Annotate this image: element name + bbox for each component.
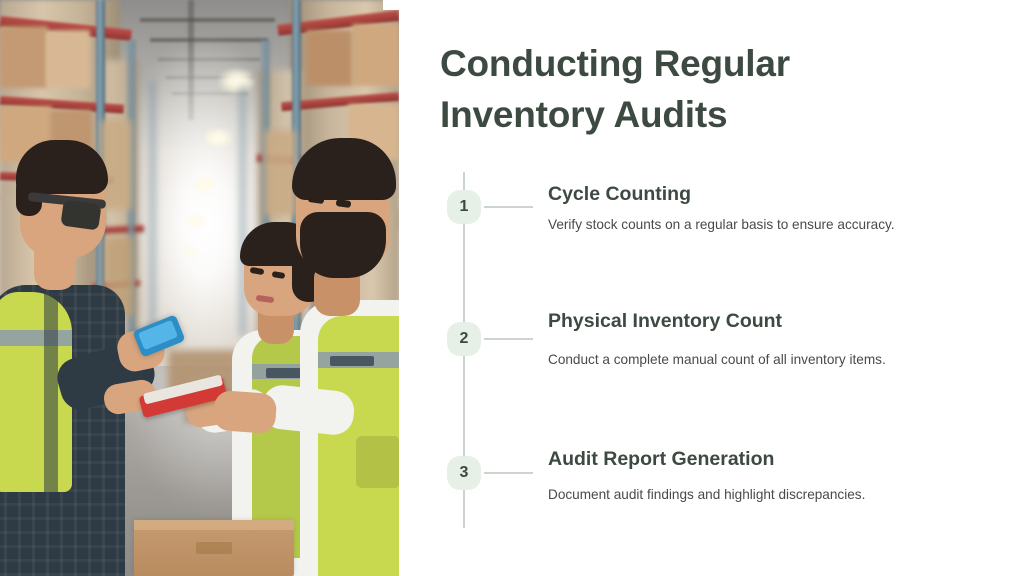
ceiling-light [203,128,233,148]
carton-tape [196,542,232,554]
step-number-badge-3: 3 [447,456,481,490]
ceiling-light [186,214,206,228]
step-body-2: Conduct a complete manual count of all i… [548,348,938,371]
step-heading-2: Physical Inventory Count [548,310,782,333]
page-title: Conducting Regular Inventory Audits [440,38,960,140]
worker-right-hand [213,390,278,434]
rack-upright [240,86,245,336]
step-number-badge-2: 2 [447,322,481,356]
step-heading-1: Cycle Counting [548,183,691,206]
carton [352,24,399,86]
carton [46,30,90,88]
step-heading-3: Audit Report Generation [548,448,774,471]
vest-pocket [356,436,399,488]
step-body-1: Verify stock counts on a regular basis t… [548,213,926,236]
ceiling-light [218,68,256,94]
vest-name-tag [330,356,374,366]
rack-upright [150,80,155,330]
ceiling-light [182,246,198,258]
carton-top-edge [134,520,294,530]
content-panel: Conducting Regular Inventory Audits 1 Cy… [399,0,1024,576]
step-connector-1 [484,206,533,208]
carton [306,30,352,86]
ceiling-beam [140,18,275,22]
step-body-3: Document audit findings and highlight di… [548,483,968,506]
ceiling-light [192,176,216,193]
step-connector-2 [484,338,533,340]
warehouse-photo [0,0,399,576]
worker-right-beard [300,212,386,278]
carton [0,26,48,88]
step-connector-3 [484,472,533,474]
carton [264,130,296,216]
vest-reflective-stripe [0,330,72,346]
photo-corner-notch [383,0,399,10]
vest-edge [44,292,58,492]
glasses-lens [60,199,101,230]
slide-root: Conducting Regular Inventory Audits 1 Cy… [0,0,1024,576]
step-number-badge-1: 1 [447,190,481,224]
